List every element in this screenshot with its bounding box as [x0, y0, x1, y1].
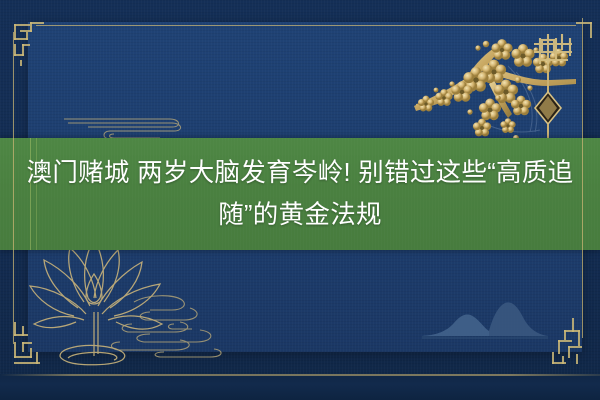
fret-corner-top-right-icon [552, 18, 596, 62]
frame-line-right [582, 18, 583, 338]
page-title: 澳门赌城 两岁大脑发育岑岭! 别错过这些“高质追随”的黄金法规 [20, 152, 580, 236]
title-container: 澳门赌城 两岁大脑发育岑岭! 别错过这些“高质追随”的黄金法规 [0, 138, 600, 250]
mountain-silhouette-decoration [420, 290, 550, 340]
frame-line-left [13, 32, 14, 344]
fret-corner-bottom-left-icon [10, 320, 56, 368]
bottom-strip [0, 374, 600, 400]
lotus-flower-decoration [24, 238, 274, 373]
fret-corner-top-left-icon [10, 20, 56, 68]
poster-canvas: 澳门赌城 两岁大脑发育岑岭! 别错过这些“高质追随”的黄金法规 [0, 0, 600, 400]
fret-corner-bottom-right-icon [550, 318, 596, 370]
bottom-hairline [0, 374, 600, 376]
frame-line-top [36, 25, 576, 26]
